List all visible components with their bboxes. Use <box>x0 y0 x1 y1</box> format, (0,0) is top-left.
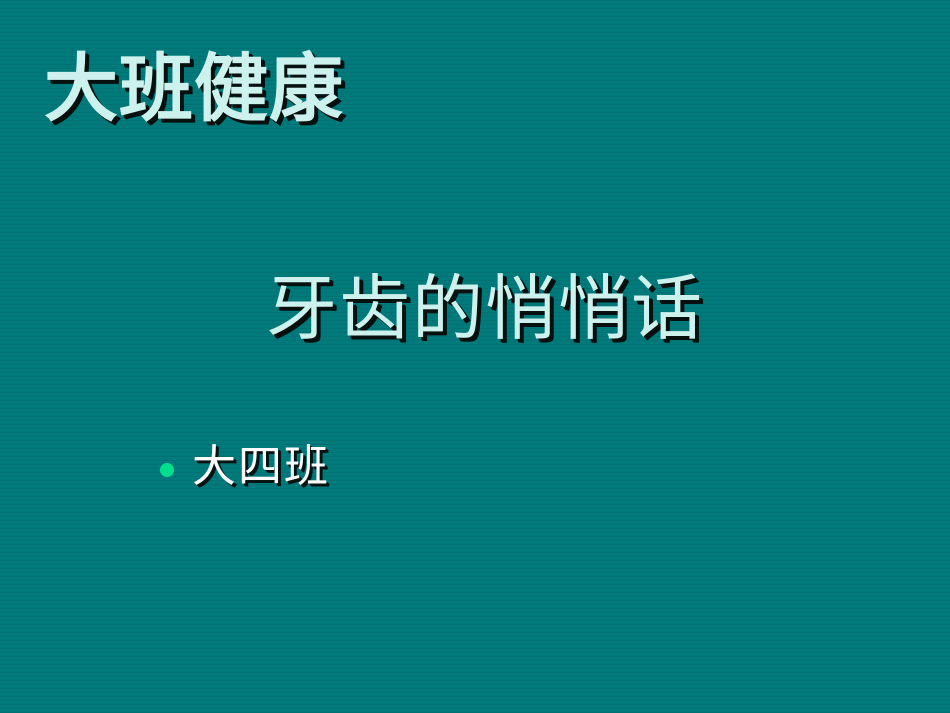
bullet-list-item: 大四班 <box>160 443 330 491</box>
slide-content-layer: 大班健康 牙齿的悄悄话 大四班 <box>0 0 950 713</box>
bullet-item-label: 大四班 <box>192 443 330 491</box>
presentation-slide: 大班健康 牙齿的悄悄话 大四班 <box>0 0 950 713</box>
slide-heading: 大班健康 <box>44 52 344 127</box>
slide-title: 牙齿的悄悄话 <box>0 272 950 347</box>
bullet-dot-icon <box>160 463 174 477</box>
